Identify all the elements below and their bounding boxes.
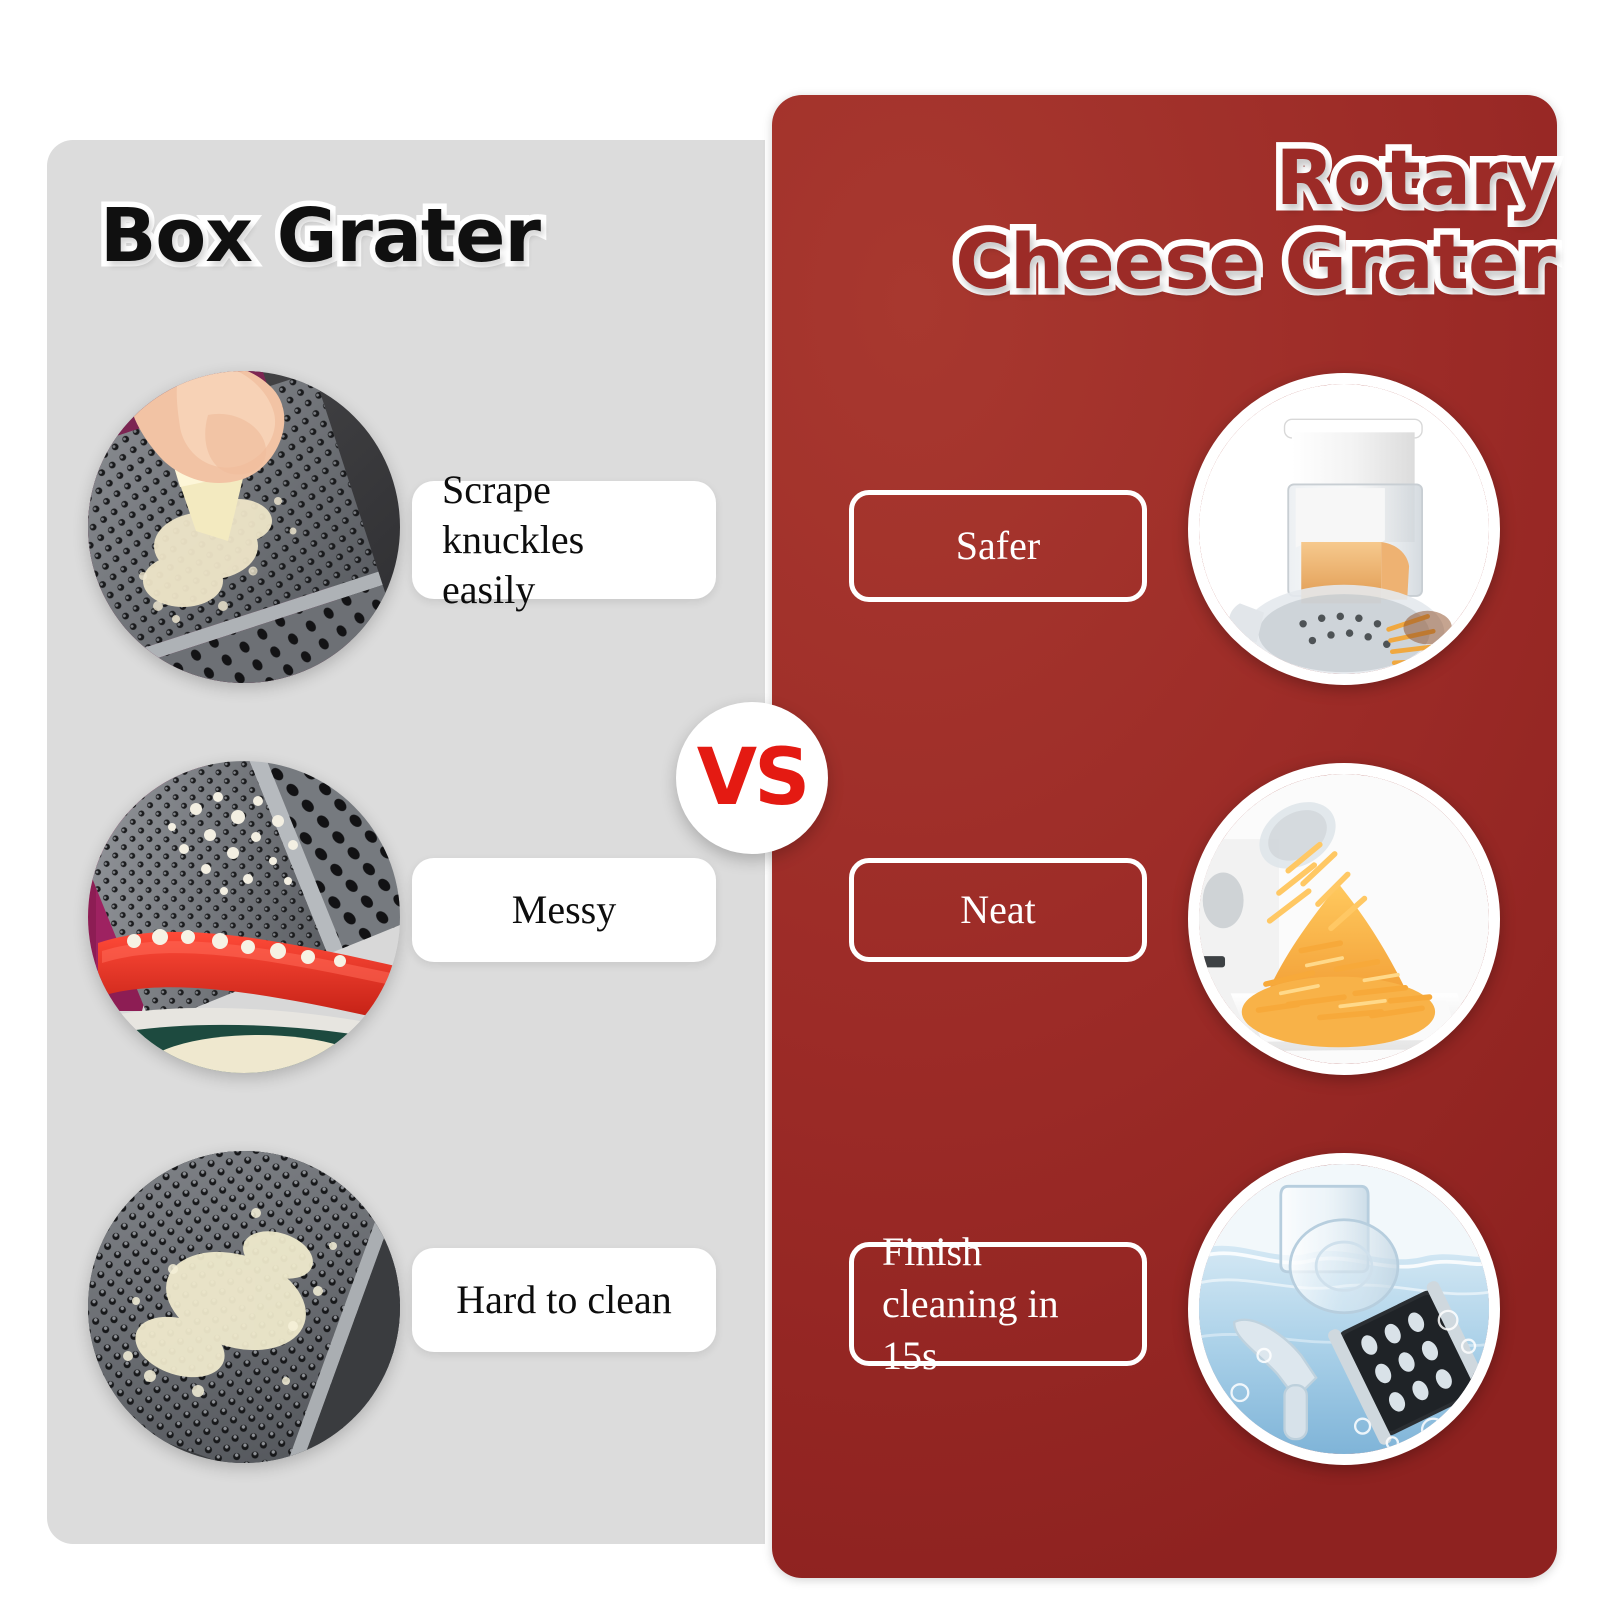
comparison-infographic: Box Grater (0, 0, 1600, 1600)
left-label-2-text: Messy (512, 885, 616, 935)
right-label-2: Neat (849, 858, 1147, 962)
vs-badge: VS (676, 702, 828, 854)
left-label-1: Scrape knuckles easily (412, 481, 716, 599)
left-photo-3-dirty-grater-surface (88, 1151, 400, 1463)
right-photo-3-grater-parts-in-water (1188, 1153, 1500, 1465)
left-label-3-text: Hard to clean (456, 1275, 671, 1325)
right-panel-title: Rotary Cheese Grater (955, 140, 1555, 300)
right-photo-2-shredded-cheddar-in-dish (1188, 763, 1500, 1075)
left-label-3: Hard to clean (412, 1248, 716, 1352)
left-photo-2-messy-grated-cheese (88, 761, 400, 1073)
right-label-2-text: Neat (960, 884, 1036, 936)
right-panel-title-line1: Rotary (955, 140, 1555, 216)
right-label-3-text: Finish cleaning in 15s (882, 1226, 1114, 1382)
right-label-3: Finish cleaning in 15s (849, 1242, 1147, 1366)
right-photo-1-rotary-grater-hopper (1188, 373, 1500, 685)
left-label-2: Messy (412, 858, 716, 962)
left-photo-1-hand-grating-cheese (88, 371, 400, 683)
left-label-1-text: Scrape knuckles easily (442, 465, 686, 615)
right-label-1: Safer (849, 490, 1147, 602)
right-label-1-text: Safer (956, 520, 1040, 572)
left-panel-title: Box Grater (100, 193, 540, 279)
right-panel-title-line2: Cheese Grater (955, 224, 1555, 300)
